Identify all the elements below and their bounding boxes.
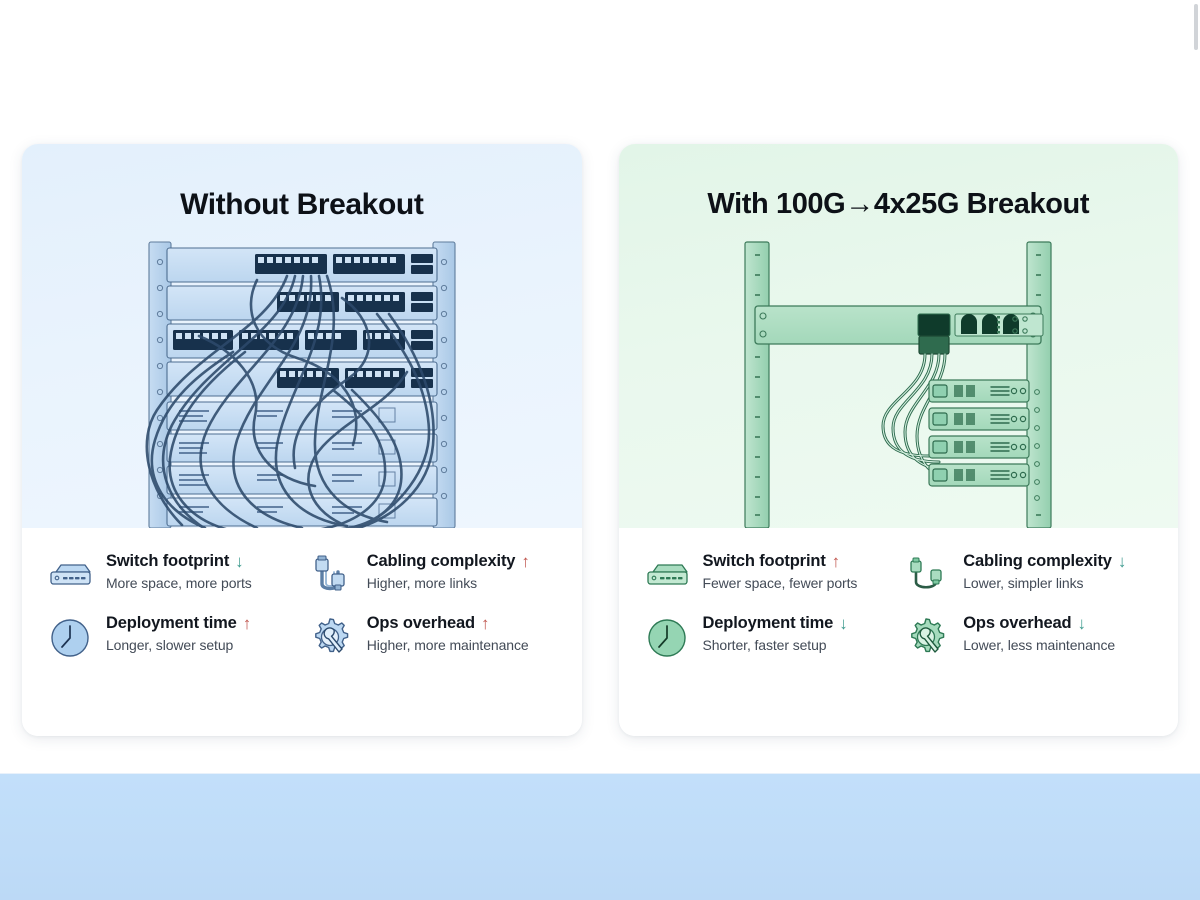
trend-arrow: ↓: [1078, 615, 1086, 632]
feature-title-text: Switch footprint: [106, 552, 229, 571]
feature-title-text: Ops overhead: [367, 614, 475, 633]
feature-deployment-time: Deployment time ↑ Longer, slower setup: [46, 612, 297, 662]
feature-title-text: Cabling complexity: [367, 552, 516, 571]
feature-cabling-complexity: Cabling complexity ↓ Lower, simpler link…: [903, 550, 1154, 600]
gear-wrench-icon: [307, 614, 355, 662]
page-root: Without Breakout: [0, 0, 1200, 900]
feature-text: Switch footprint ↓ More space, more port…: [106, 550, 252, 591]
card-without-breakout: Without Breakout: [22, 144, 582, 736]
clock-icon: [46, 614, 94, 662]
feature-ops-overhead: Ops overhead ↓ Lower, less maintenance: [903, 612, 1154, 662]
card-title-right: With 100G→4x25G Breakout: [619, 144, 1179, 221]
card-hero-green: With 100G→4x25G Breakout: [619, 144, 1179, 528]
feature-list-left: Switch footprint ↓ More space, more port…: [22, 528, 582, 736]
feature-title-text: Deployment time: [703, 614, 834, 633]
scrollbar[interactable]: [1194, 4, 1198, 50]
trend-arrow: ↓: [839, 615, 847, 632]
cable-icon: [903, 552, 951, 600]
feature-text: Ops overhead ↓ Lower, less maintenance: [963, 612, 1115, 653]
bottom-band: [0, 773, 1200, 900]
trend-arrow: ↓: [1118, 553, 1126, 570]
feature-subtitle: Higher, more links: [367, 575, 530, 591]
card-title-left: Without Breakout: [22, 144, 582, 222]
feature-list-right: Switch footprint ↑ Fewer space, fewer po…: [619, 528, 1179, 736]
feature-subtitle: Lower, simpler links: [963, 575, 1126, 591]
comparison-cards: Without Breakout: [22, 144, 1178, 736]
feature-title: Deployment time ↑: [106, 614, 251, 633]
feature-subtitle: Longer, slower setup: [106, 637, 251, 653]
feature-text: Ops overhead ↑ Higher, more maintenance: [367, 612, 529, 653]
feature-title-text: Deployment time: [106, 614, 237, 633]
feature-title: Deployment time ↓: [703, 614, 848, 633]
card-with-breakout: With 100G→4x25G Breakout: [619, 144, 1179, 736]
feature-title-text: Ops overhead: [963, 614, 1071, 633]
feature-title-text: Switch footprint: [703, 552, 826, 571]
feature-subtitle: Fewer space, fewer ports: [703, 575, 858, 591]
trend-arrow: ↑: [832, 553, 840, 570]
feature-title: Ops overhead ↑: [367, 614, 529, 633]
feature-subtitle: Lower, less maintenance: [963, 637, 1115, 653]
switch-icon: [643, 552, 691, 600]
feature-text: Cabling complexity ↑ Higher, more links: [367, 550, 530, 591]
feature-subtitle: More space, more ports: [106, 575, 252, 591]
feature-text: Cabling complexity ↓ Lower, simpler link…: [963, 550, 1126, 591]
feature-switch-footprint: Switch footprint ↑ Fewer space, fewer po…: [643, 550, 894, 600]
feature-text: Switch footprint ↑ Fewer space, fewer po…: [703, 550, 858, 591]
trend-arrow: ↑: [481, 615, 489, 632]
card-hero-blue: Without Breakout: [22, 144, 582, 528]
feature-title-text: Cabling complexity: [963, 552, 1112, 571]
feature-deployment-time: Deployment time ↓ Shorter, faster setup: [643, 612, 894, 662]
trend-arrow: ↑: [243, 615, 251, 632]
feature-title: Cabling complexity ↑: [367, 552, 530, 571]
switch-icon: [46, 552, 94, 600]
cable-icon: [307, 552, 355, 600]
trend-arrow: ↑: [521, 553, 529, 570]
feature-title: Switch footprint ↓: [106, 552, 252, 571]
feature-title: Switch footprint ↑: [703, 552, 858, 571]
feature-subtitle: Higher, more maintenance: [367, 637, 529, 653]
illustration-messy-rack: [22, 240, 582, 528]
feature-switch-footprint: Switch footprint ↓ More space, more port…: [46, 550, 297, 600]
feature-cabling-complexity: Cabling complexity ↑ Higher, more links: [307, 550, 558, 600]
illustration-breakout-rack: [619, 240, 1179, 528]
feature-title: Cabling complexity ↓: [963, 552, 1126, 571]
clock-icon: [643, 614, 691, 662]
trend-arrow: ↓: [235, 553, 243, 570]
feature-text: Deployment time ↓ Shorter, faster setup: [703, 612, 848, 653]
feature-subtitle: Shorter, faster setup: [703, 637, 848, 653]
feature-title: Ops overhead ↓: [963, 614, 1115, 633]
feature-text: Deployment time ↑ Longer, slower setup: [106, 612, 251, 653]
gear-wrench-icon: [903, 614, 951, 662]
feature-ops-overhead: Ops overhead ↑ Higher, more maintenance: [307, 612, 558, 662]
